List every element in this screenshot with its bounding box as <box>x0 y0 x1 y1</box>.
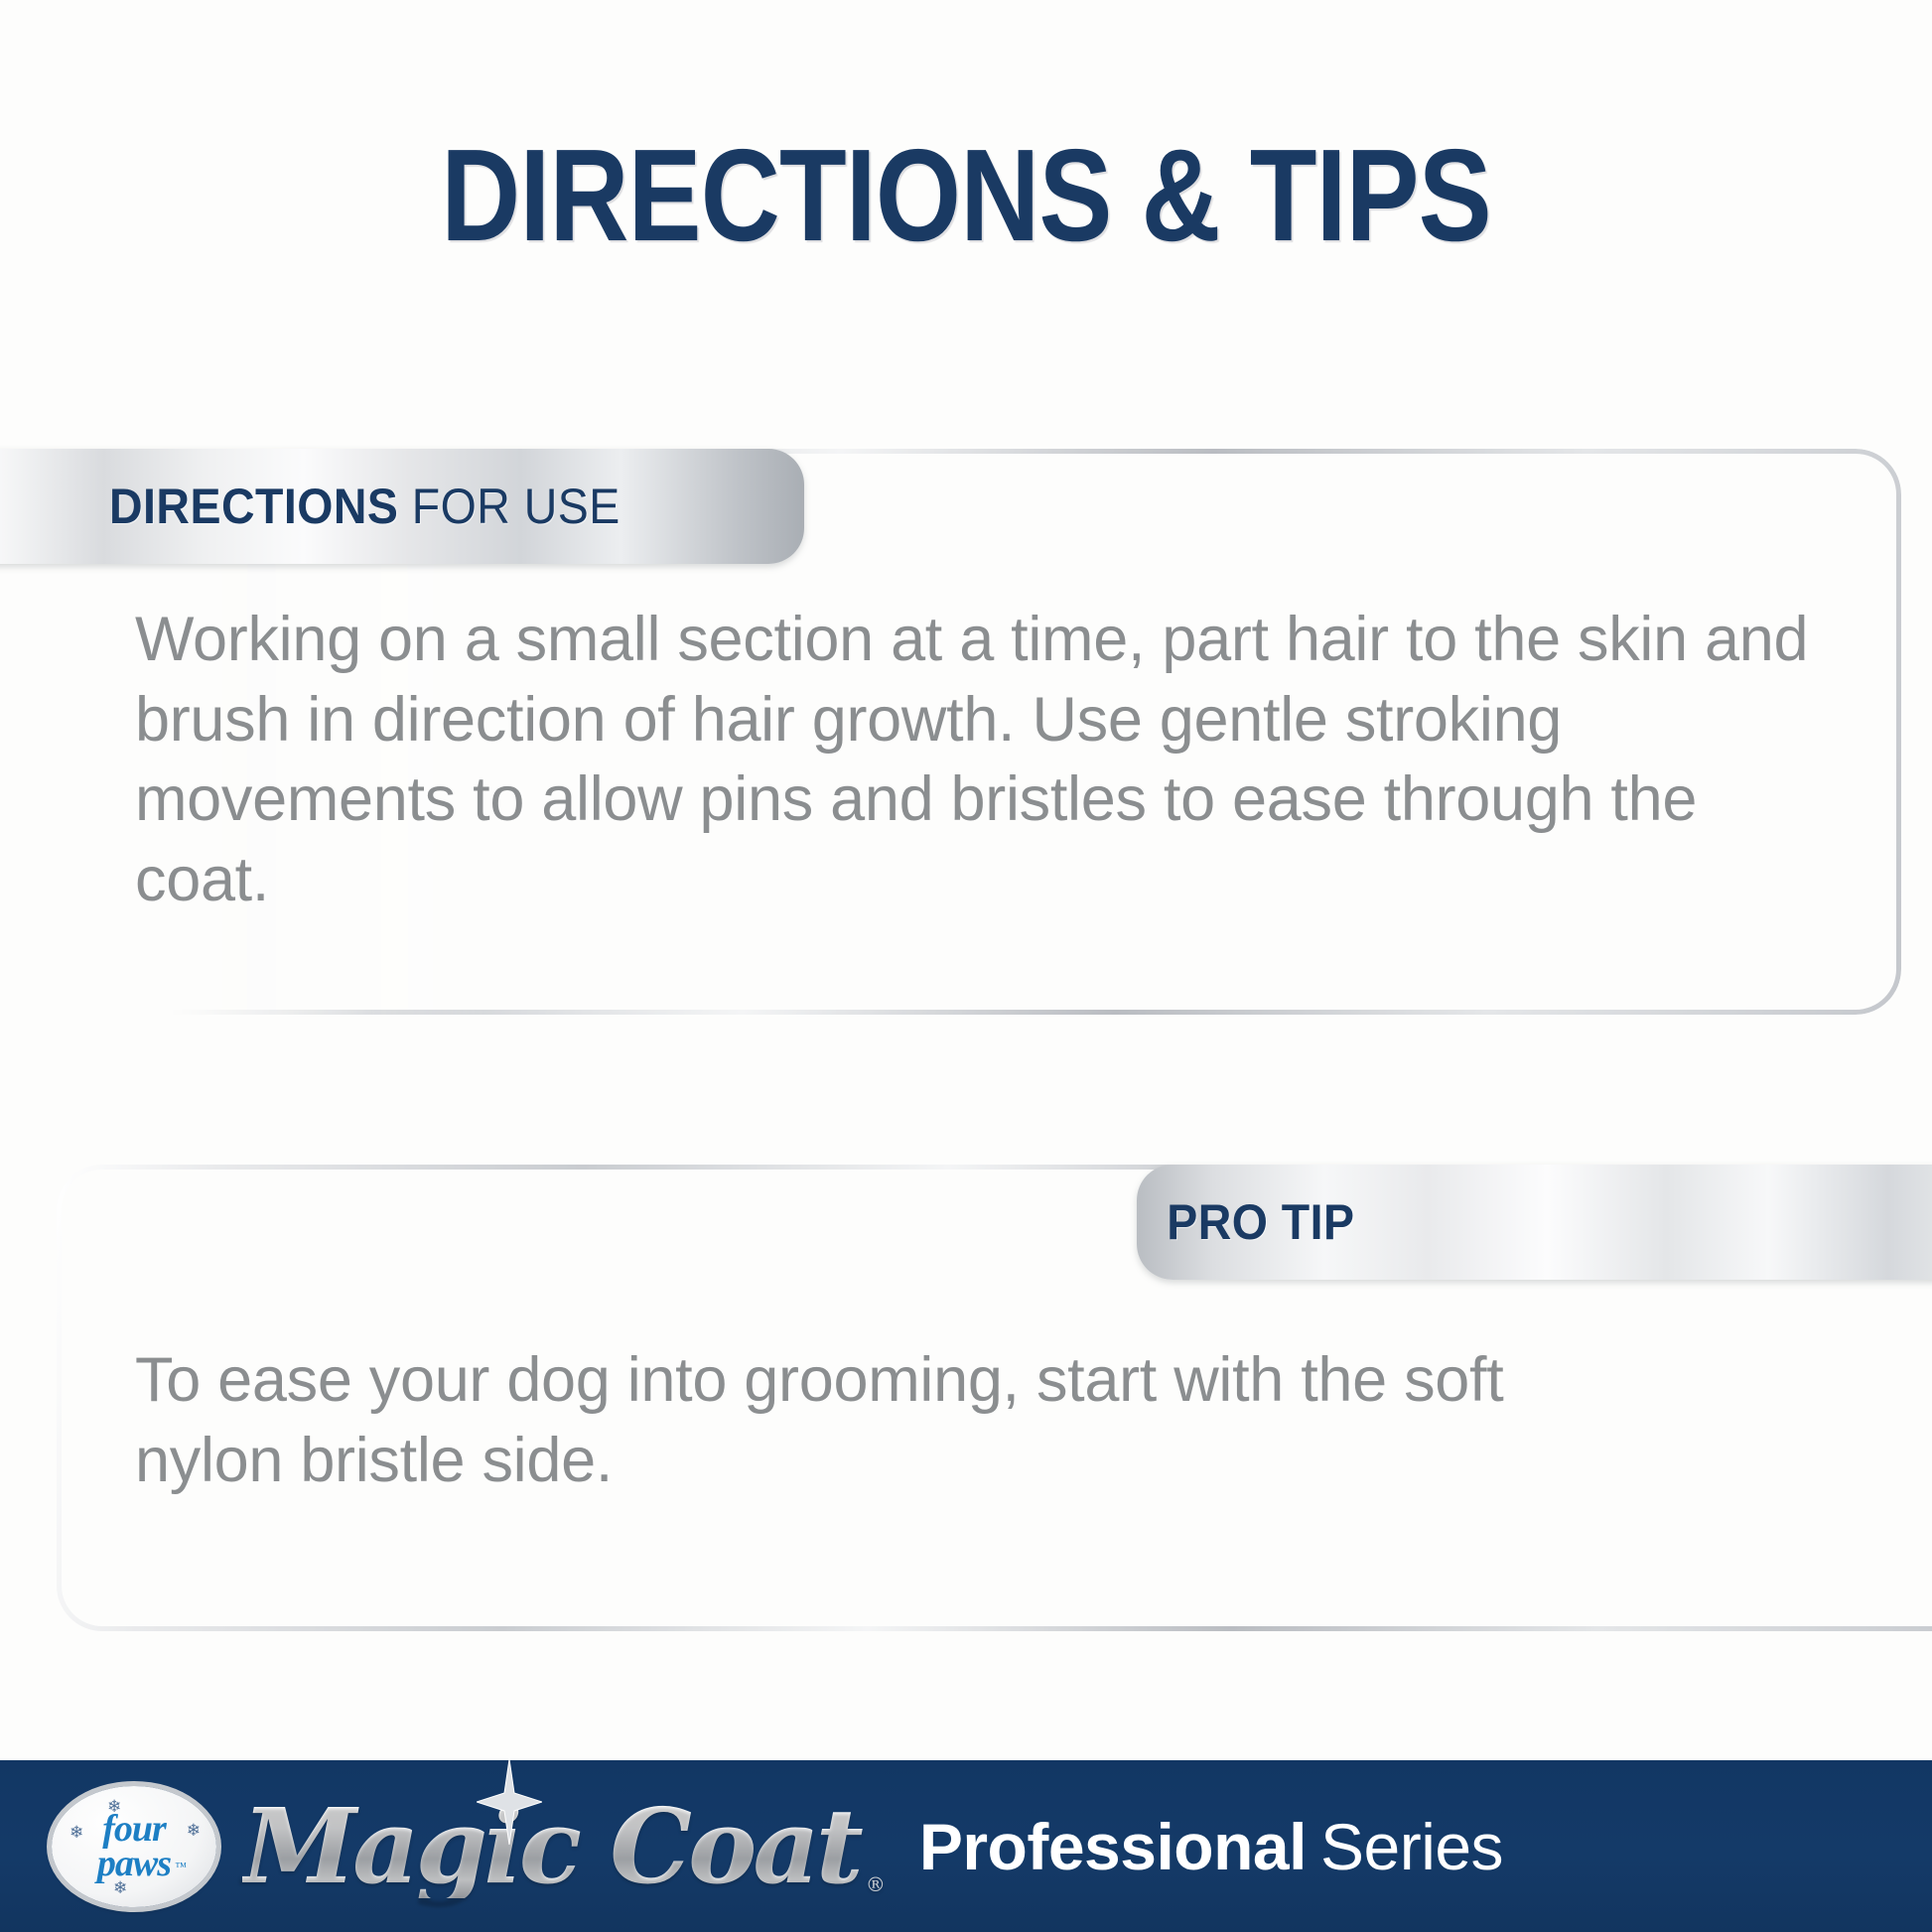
protip-banner-strong: PRO TIP <box>1168 1194 1355 1250</box>
tagline-series: Series <box>1320 1810 1503 1883</box>
directions-body-text: Working on a small section at a time, pa… <box>135 600 1823 920</box>
directions-banner-strong: DIRECTIONS <box>109 479 398 534</box>
paw-print-icon: ❄ <box>69 1824 83 1841</box>
four-paws-line2: paws ™ <box>97 1847 171 1881</box>
protip-body-text: To ease your dog into grooming, start wi… <box>135 1340 1654 1500</box>
magic-coat-wordmark: Magic Coat ® <box>242 1795 866 1898</box>
page-title: DIRECTIONS & TIPS <box>155 127 1778 265</box>
protip-banner: PRO TIP <box>1137 1165 1932 1280</box>
registered-mark-icon: ® <box>866 1874 882 1894</box>
directions-banner-light: FOR USE <box>398 479 620 534</box>
directions-banner-label: DIRECTIONS FOR USE <box>109 478 621 535</box>
paw-print-icon: ❄ <box>107 1798 121 1815</box>
directions-banner: DIRECTIONS FOR USE <box>0 449 804 564</box>
four-paws-line1: four <box>102 1812 166 1847</box>
footer-logo-lockup: ❄ ❄ ❄ ❄ four paws ™ Magic Coat ® Profess… <box>52 1786 1503 1907</box>
paw-print-icon: ❄ <box>187 1822 201 1839</box>
brand-footer: ❄ ❄ ❄ ❄ four paws ™ Magic Coat ® Profess… <box>0 1760 1932 1932</box>
tagline-professional: Professional <box>919 1810 1307 1883</box>
trademark-icon: ™ <box>175 1862 186 1872</box>
magic-coat-text: Magic Coat <box>242 1785 860 1907</box>
four-paws-logo-badge: ❄ ❄ ❄ ❄ four paws ™ <box>52 1786 216 1907</box>
professional-series-tagline: ProfessionalSeries <box>919 1814 1503 1879</box>
four-paws-line2-text: paws <box>97 1843 171 1884</box>
protip-banner-label: PRO TIP <box>1168 1193 1355 1251</box>
